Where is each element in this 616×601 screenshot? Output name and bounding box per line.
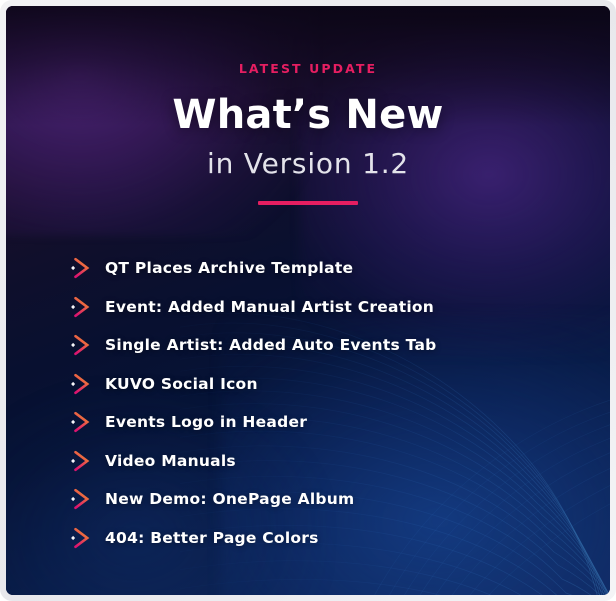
list-item-1: Event: Added Manual Artist Creation <box>68 288 580 327</box>
list-item-label: 404: Better Page Colors <box>105 529 319 547</box>
title-divider <box>258 201 358 205</box>
list-item-label: New Demo: OnePage Album <box>105 490 354 508</box>
list-item-label: QT Places Archive Template <box>105 259 353 277</box>
chevron-bullet-icon <box>68 527 94 549</box>
list-item-label: Video Manuals <box>105 452 236 470</box>
whats-new-card: LATEST UPDATE What’s New in Version 1.2 … <box>6 6 610 595</box>
list-item-4: Events Logo in Header <box>68 403 580 442</box>
chevron-bullet-icon <box>68 411 94 433</box>
card-content: LATEST UPDATE What’s New in Version 1.2 … <box>6 6 610 595</box>
list-item-label: Single Artist: Added Auto Events Tab <box>105 336 437 354</box>
chevron-bullet-icon <box>68 488 94 510</box>
card-frame: LATEST UPDATE What’s New in Version 1.2 … <box>0 0 616 601</box>
list-item-label: Events Logo in Header <box>105 413 307 431</box>
list-item-label: Event: Added Manual Artist Creation <box>105 298 434 316</box>
version-subtitle: in Version 1.2 <box>6 147 610 180</box>
chevron-bullet-icon <box>68 296 94 318</box>
chevron-bullet-icon <box>68 373 94 395</box>
list-item-0: QT Places Archive Template <box>68 249 580 288</box>
chevron-bullet-icon <box>68 450 94 472</box>
list-item-label: KUVO Social Icon <box>105 375 258 393</box>
list-item-2: Single Artist: Added Auto Events Tab <box>68 326 580 365</box>
eyebrow-label: LATEST UPDATE <box>6 61 610 76</box>
feature-list: QT Places Archive Template Event: Added … <box>68 249 580 557</box>
list-item-5: Video Manuals <box>68 442 580 481</box>
list-item-3: KUVO Social Icon <box>68 365 580 404</box>
page-title: What’s New <box>6 94 610 136</box>
chevron-bullet-icon <box>68 257 94 279</box>
list-item-7: 404: Better Page Colors <box>68 519 580 558</box>
chevron-bullet-icon <box>68 334 94 356</box>
list-item-6: New Demo: OnePage Album <box>68 480 580 519</box>
